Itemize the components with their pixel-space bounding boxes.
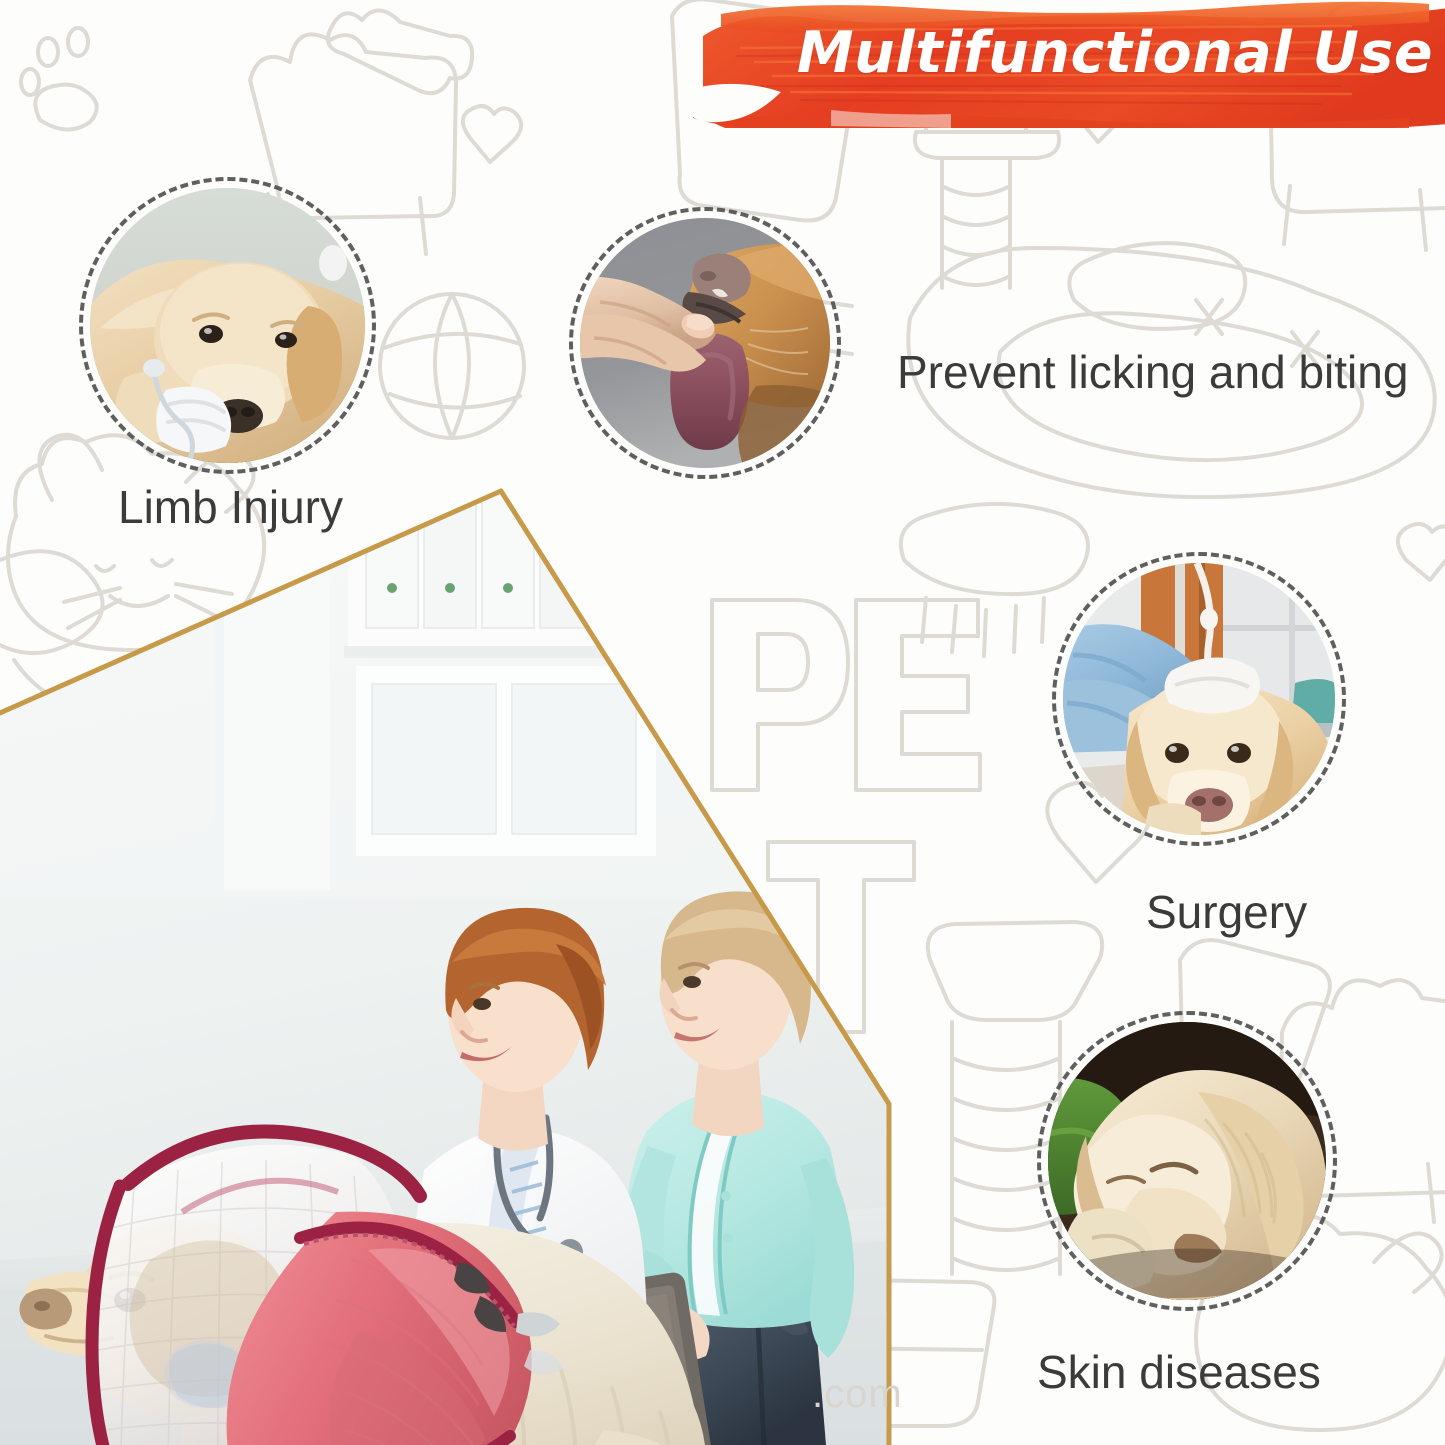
bubble-skin-diseases xyxy=(1048,1022,1326,1300)
header-banner: Multifunctional Use xyxy=(681,0,1445,128)
bubble-ring xyxy=(1037,1011,1337,1311)
caption-surgery: Surgery xyxy=(1146,885,1307,939)
caption-prevent-licking: Prevent licking and biting xyxy=(897,345,1408,399)
bubble-surgery xyxy=(1063,563,1335,835)
caption-limb-injury: Limb Injury xyxy=(118,480,343,534)
hero-product-photo xyxy=(0,470,945,1445)
bubble-prevent-licking xyxy=(580,218,830,468)
bubble-limb-injury xyxy=(90,188,365,463)
site-watermark: .com xyxy=(812,1372,903,1417)
banner-title: Multifunctional Use xyxy=(681,20,1433,86)
caption-skin-diseases: Skin diseases xyxy=(1037,1345,1321,1399)
bubble-ring xyxy=(1052,552,1346,846)
hero-photo-clip xyxy=(0,470,945,1445)
infographic-canvas: Multifunctional Use xyxy=(0,0,1445,1445)
bubble-ring xyxy=(569,207,841,479)
bubble-ring xyxy=(79,177,376,474)
